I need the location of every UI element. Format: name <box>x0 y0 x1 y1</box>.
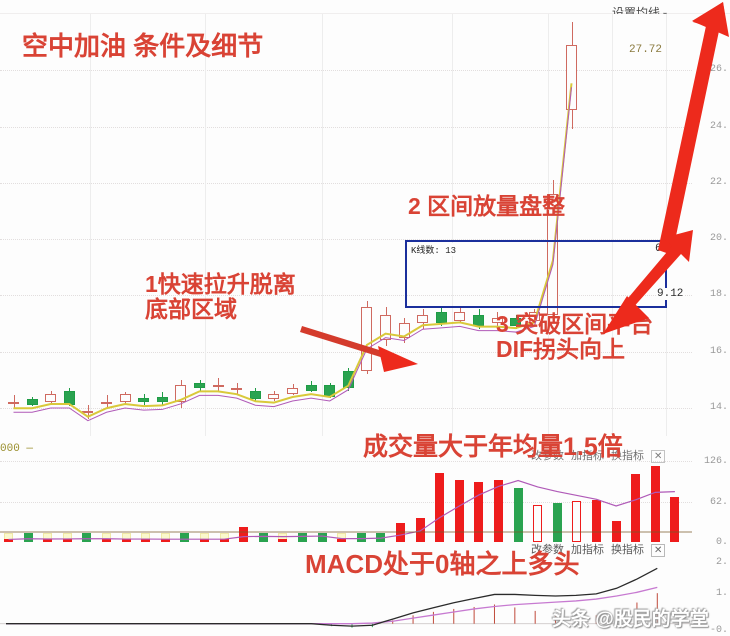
annotation-1: 1快速拉升脱离 底部区域 <box>145 272 296 322</box>
close-icon[interactable]: ✕ <box>651 544 665 557</box>
price-axis-tick: 16. <box>710 346 728 357</box>
annotation-2: 2 区间放量盘整 <box>408 194 565 219</box>
macd-axis-tick: -0. <box>710 625 728 636</box>
volume-panel: 126.62.0. <box>0 452 730 542</box>
watermark: 头条 @股民的学堂 <box>552 604 709 631</box>
red-arrow-to-box <box>565 230 695 340</box>
red-arrow-up-right <box>620 0 730 260</box>
bar-count-label: K线数: 13 <box>410 243 457 256</box>
annotation-1-line1: 1快速拉升脱离 <box>145 272 296 297</box>
volume-ma-line <box>0 452 692 542</box>
volume-axis: 126.62.0. <box>692 452 730 542</box>
volume-plot-area[interactable] <box>0 452 692 542</box>
price-axis-tick: 18. <box>710 289 728 300</box>
close-icon[interactable]: ✕ <box>651 450 665 463</box>
annotation-3-line2: DIF拐头向上 <box>496 337 653 362</box>
volume-axis-tick: 126. <box>704 456 728 467</box>
price-axis-tick: 14. <box>710 402 728 413</box>
annotation-title: 空中加油 条件及细节 <box>22 32 263 60</box>
annotation-1-line2: 底部区域 <box>145 297 296 322</box>
volume-axis-tick: 62. <box>710 497 728 508</box>
volume-left-label: 000 — <box>0 443 33 455</box>
annotation-volume: 成交量大于年均量1.5倍 <box>363 434 623 461</box>
switch-indicator-button[interactable]: 换指标 <box>611 544 644 556</box>
red-arrow-to-candle <box>300 320 420 380</box>
volume-axis-tick: 0. <box>716 537 728 548</box>
chart-screenshot: 设置均线▾ ✳ ✳ ✳ ✳ ✳ ✳ ✳ 26.24.22.20.18.16.14… <box>0 0 730 636</box>
annotation-macd: MACD处于0轴之上多头 <box>305 550 579 578</box>
macd-axis-tick: 2. <box>716 557 728 568</box>
macd-axis-tick: 1. <box>716 588 728 599</box>
